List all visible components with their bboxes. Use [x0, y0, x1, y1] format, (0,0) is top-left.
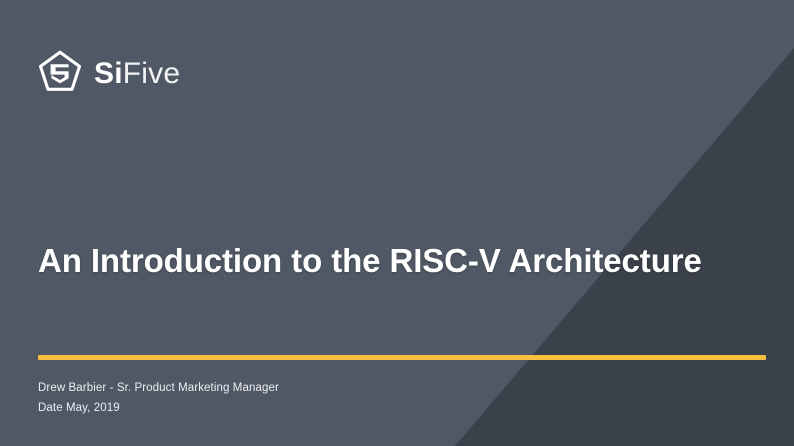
title-slide: SiFive An Introduction to the RISC-V Arc… — [0, 0, 794, 446]
sifive-logo-lockup: SiFive — [38, 50, 180, 96]
sifive-wordmark: SiFive — [94, 59, 180, 89]
presenter-date: Date May, 2019 — [38, 398, 279, 418]
presenter-name-role: Drew Barbier - Sr. Product Marketing Man… — [38, 378, 279, 398]
accent-divider-rule — [38, 355, 766, 360]
wordmark-bold-part: Si — [94, 57, 123, 90]
presenter-block: Drew Barbier - Sr. Product Marketing Man… — [38, 378, 279, 418]
sifive-pentagon-five-icon — [38, 50, 82, 96]
slide-title: An Introduction to the RISC-V Architectu… — [38, 242, 702, 280]
wordmark-light-part: Five — [123, 57, 180, 90]
